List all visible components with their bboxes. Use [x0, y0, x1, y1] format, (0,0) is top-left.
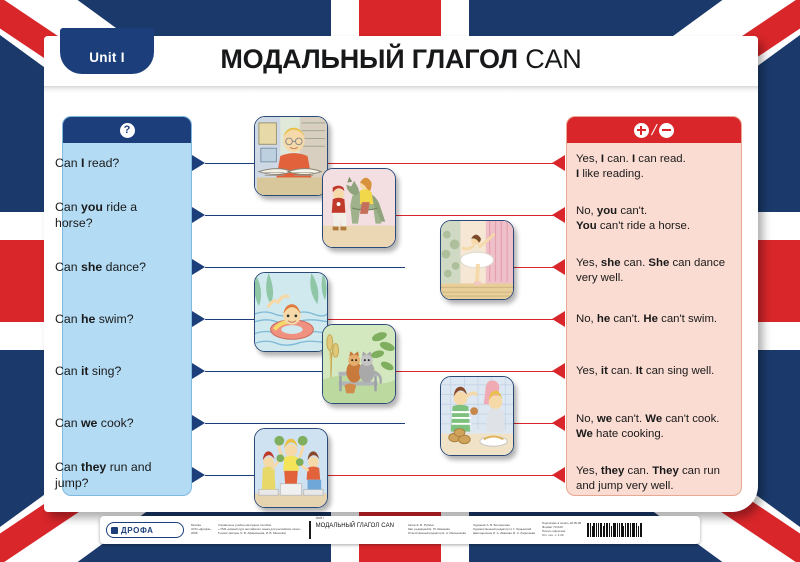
- question-subject: they: [81, 460, 106, 474]
- arrow-blue-6: [192, 415, 205, 431]
- connector-line-right-2: [374, 215, 564, 216]
- arrow-red-3: [552, 259, 565, 275]
- logo-mark-icon: [111, 527, 118, 534]
- footer-logo-block: ДРОФА: [100, 516, 184, 544]
- illustration-tile-children-running-jumping[interactable]: [254, 428, 328, 508]
- answer-item-4[interactable]: No, he can't. He can't swim.: [576, 312, 742, 327]
- question-item-5[interactable]: Can it sing?: [55, 364, 175, 380]
- connector-line-left-5: [205, 371, 327, 372]
- arrow-blue-1: [192, 155, 205, 171]
- arrow-blue-2: [192, 207, 205, 223]
- question-item-2[interactable]: Can you ride a horse?: [55, 200, 175, 231]
- illustration-tile-cat-singing-in-field[interactable]: [322, 324, 396, 404]
- illustration-tile-ballerina-dancing[interactable]: [440, 220, 514, 300]
- footer-address: Москва ООО «Дрофа» 2008: [191, 524, 211, 535]
- question-rest: swim?: [95, 312, 133, 326]
- poster-header: Unit I МОДАЛЬНЫЙ ГЛАГОЛ CAN: [44, 36, 758, 92]
- question-subject: it: [81, 364, 89, 378]
- header-divider: [44, 86, 758, 93]
- connector-line-left-3: [205, 267, 405, 268]
- connector-line-right-7: [312, 475, 564, 476]
- footer-credits-1: Автор Е. В. Рубина Зав. редакцией Е. Ю. …: [408, 524, 466, 535]
- question-panel-header: ?: [63, 117, 191, 143]
- footer-title-bold: МОДАЛЬНЫЙ ГЛАГОЛ: [316, 523, 380, 529]
- question-rest: cook?: [97, 416, 133, 430]
- publisher-footer: ДРОФА Москва ООО «Дрофа» 2008 Справочное…: [100, 516, 700, 544]
- arrow-red-2: [552, 207, 565, 223]
- illustration-tile-boy-reading-book[interactable]: [254, 116, 328, 196]
- answer-item-2[interactable]: No, you can't. You can't ride a horse.: [576, 204, 742, 234]
- footer-center-title-block: Unit I МОДАЛЬНЫЙ ГЛАГОЛ CAN: [316, 516, 394, 544]
- question-item-4[interactable]: Can he swim?: [55, 312, 175, 328]
- question-rest: sing?: [89, 364, 122, 378]
- question-item-1[interactable]: Can I read?: [55, 156, 175, 172]
- question-subject: he: [81, 312, 95, 326]
- page-title-bold: МОДАЛЬНЫЙ ГЛАГОЛ: [220, 44, 518, 74]
- arrow-red-7: [552, 467, 565, 483]
- poster-body: ? Can I read? Can you ride a horse? Can …: [44, 94, 758, 494]
- footer-description: Справочное учебно-наглядное пособие « УМ…: [218, 524, 301, 535]
- question-item-6[interactable]: Can we cook?: [55, 416, 175, 432]
- question-prefix: Can: [55, 312, 81, 326]
- question-prefix: Can: [55, 156, 81, 170]
- arrow-red-6: [552, 415, 565, 431]
- connector-line-right-1: [312, 163, 564, 164]
- illustration-tile-children-cooking[interactable]: [440, 376, 514, 456]
- question-subject: we: [81, 416, 97, 430]
- logo-text: ДРОФА: [121, 526, 154, 535]
- drofa-logo: ДРОФА: [106, 522, 184, 538]
- connector-line-right-4: [312, 319, 564, 320]
- slash-icon: /: [650, 123, 658, 138]
- connector-line-right-5: [374, 371, 564, 372]
- illustration-tile-girl-riding-horse[interactable]: [322, 168, 396, 248]
- answer-item-7[interactable]: Yes, they can. They can run and jump ver…: [576, 464, 742, 494]
- page-title: МОДАЛЬНЫЙ ГЛАГОЛ CAN: [44, 44, 758, 75]
- question-item-3[interactable]: Can she dance?: [55, 260, 175, 276]
- arrow-red-1: [552, 155, 565, 171]
- connector-line-left-6: [205, 423, 405, 424]
- arrow-red-5: [552, 363, 565, 379]
- question-subject: you: [81, 200, 103, 214]
- connector-line-left-2: [205, 215, 327, 216]
- question-subject: she: [81, 260, 102, 274]
- barcode: [587, 523, 642, 537]
- answer-panel-header: /: [567, 117, 741, 143]
- answer-item-3[interactable]: Yes, she can. She can dance very well.: [576, 256, 742, 286]
- poster-card: Unit I МОДАЛЬНЫЙ ГЛАГОЛ CAN: [44, 36, 758, 512]
- question-rest: read?: [84, 156, 119, 170]
- arrow-blue-4: [192, 311, 205, 327]
- footer-credits-3: Подписано в печать 18.05.08 Формат 70×10…: [542, 522, 581, 537]
- answer-item-6[interactable]: No, we can't. We can't cook. We hate coo…: [576, 412, 742, 442]
- plus-circle-icon: [634, 123, 649, 138]
- footer-divider: [309, 521, 311, 539]
- question-prefix: Can: [55, 364, 81, 378]
- arrow-blue-3: [192, 259, 205, 275]
- question-rest: dance?: [102, 260, 146, 274]
- minus-circle-icon: [659, 123, 674, 138]
- question-mark-icon: ?: [120, 123, 135, 138]
- illustration-tile-boy-in-swim-ring[interactable]: [254, 272, 328, 352]
- arrow-blue-5: [192, 363, 205, 379]
- question-prefix: Can: [55, 260, 81, 274]
- question-panel: ?: [62, 116, 192, 496]
- footer-credits-2: Художник А. В. Богомолова Художественный…: [473, 524, 535, 535]
- arrow-blue-7: [192, 467, 205, 483]
- answer-item-5[interactable]: Yes, it can. It can sing well.: [576, 364, 742, 379]
- question-prefix: Can: [55, 460, 81, 474]
- question-prefix: Can: [55, 416, 81, 430]
- footer-title: МОДАЛЬНЫЙ ГЛАГОЛ CAN: [316, 520, 394, 529]
- arrow-red-4: [552, 311, 565, 327]
- page-title-regular: CAN: [525, 44, 581, 74]
- footer-title-regular: CAN: [381, 523, 394, 529]
- answer-item-1[interactable]: Yes, I can. I can read. I like reading.: [576, 152, 742, 182]
- question-prefix: Can: [55, 200, 81, 214]
- question-item-7[interactable]: Can they run and jump?: [55, 460, 175, 491]
